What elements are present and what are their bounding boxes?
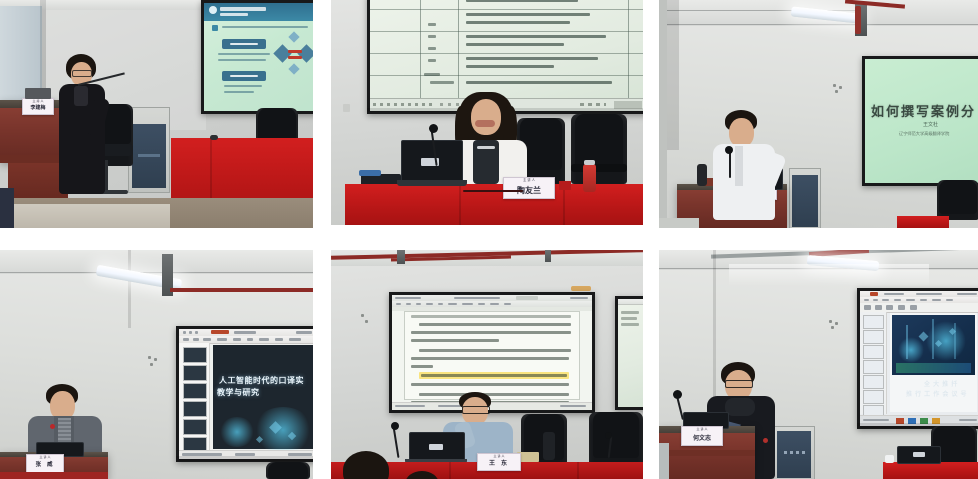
slide-title-line2: 推 行 工 作 会 议 号 bbox=[906, 389, 967, 398]
slide-title-line2: 教学与研究 bbox=[217, 387, 260, 398]
nameplate-name: 何文志 bbox=[693, 436, 711, 442]
thermos bbox=[697, 164, 707, 186]
office-chair bbox=[266, 462, 310, 479]
photo-3[interactable]: 如何撰写案例分 王文杜 辽宁师范大学高级翻译学院 主 讲 人 王桂 bbox=[659, 0, 978, 228]
wall-marks bbox=[361, 314, 364, 317]
projection-screen: 如何撰写案例分 王文杜 辽宁师范大学高级翻译学院 bbox=[862, 56, 978, 186]
equipment-cabinet bbox=[789, 168, 821, 228]
photo-6[interactable]: 全 大 推 扦 推 行 工 作 会 议 号 bbox=[659, 250, 978, 479]
nameplate-name: 李建梅 bbox=[30, 106, 45, 111]
slide-thumbnail[interactable] bbox=[863, 315, 884, 329]
slide-title-line1: 全 大 推 扦 bbox=[924, 379, 958, 388]
photo-2[interactable]: 主 讲 人 陶友兰 bbox=[331, 0, 643, 225]
photo-4[interactable]: 人工智能时代的口译实 教学与研究 bbox=[0, 250, 313, 479]
slide-thumbnail[interactable] bbox=[183, 419, 207, 435]
nameplate-sub: 主 讲 人 bbox=[682, 428, 722, 431]
wall-marks bbox=[833, 84, 836, 87]
projection-screen: 人工智能时代的口译实 教学与研究 bbox=[176, 326, 313, 462]
nameplate-sub: 主 讲 人 bbox=[27, 456, 63, 459]
slide-title-line1: 人工智能时代的口译实 bbox=[219, 375, 304, 386]
nameplate-sub: 主 讲 人 bbox=[504, 179, 554, 182]
slide-stage: 全 大 推 扦 推 行 工 作 会 议 号 bbox=[890, 313, 977, 412]
slide-thumbnail[interactable] bbox=[183, 365, 207, 381]
wall-marks bbox=[829, 320, 832, 323]
projection-screen: 全 大 推 扦 推 行 工 作 会 议 号 bbox=[857, 288, 978, 429]
cup bbox=[885, 455, 894, 463]
slide-thumbnail[interactable] bbox=[863, 345, 884, 359]
equipment-cabinet bbox=[773, 426, 815, 479]
speaker-person bbox=[56, 54, 108, 200]
screen-subtitle: 王文杜 bbox=[923, 121, 938, 128]
wall-marks bbox=[148, 356, 151, 359]
microphone bbox=[729, 152, 731, 178]
wall-socket bbox=[343, 104, 350, 112]
slide-thumbnail[interactable] bbox=[183, 401, 207, 417]
slide-thumbnail[interactable] bbox=[863, 375, 884, 389]
nameplate-name: 张 威 bbox=[36, 463, 55, 469]
document-page bbox=[404, 311, 580, 400]
slide-thumbnail[interactable] bbox=[863, 390, 884, 404]
water-bottle bbox=[583, 164, 596, 192]
equipment-cabinet bbox=[128, 107, 170, 193]
nameplate: 主 持 人 李建梅 bbox=[22, 98, 54, 115]
office-chair bbox=[571, 114, 627, 184]
laptop bbox=[897, 446, 939, 464]
thermos bbox=[543, 432, 555, 460]
nameplate-sub: 主 讲 人 bbox=[478, 455, 520, 458]
red-draped-table bbox=[883, 462, 978, 479]
secondary-projection-screen bbox=[615, 296, 643, 410]
photo-grid: 主 持 人 李建梅 bbox=[0, 0, 978, 479]
speaker-person bbox=[711, 110, 783, 220]
red-draped-table bbox=[897, 216, 949, 228]
slide-thumbnail[interactable] bbox=[183, 383, 207, 399]
slide-thumbnail[interactable] bbox=[183, 347, 207, 363]
office-chair bbox=[937, 180, 978, 220]
nameplate: 主 讲 人 张 威 bbox=[26, 454, 64, 474]
photo-1[interactable]: 主 持 人 李建梅 bbox=[0, 0, 313, 228]
nameplate: 主 讲 人 王 东 bbox=[477, 453, 521, 471]
nameplate: 主 讲 人 陶友兰 bbox=[503, 177, 555, 199]
slide-thumbnail[interactable] bbox=[863, 330, 884, 344]
nameplate-sub: 主 持 人 bbox=[23, 100, 53, 103]
photo-5[interactable]: 主 讲 人 王 东 bbox=[331, 250, 643, 479]
nameplate: 主 讲 人 何文志 bbox=[681, 426, 723, 446]
nameplate-name: 王 东 bbox=[489, 461, 509, 467]
screen-title: 如何撰写案例分 bbox=[871, 101, 976, 120]
projection-screen bbox=[201, 0, 313, 114]
screen-affiliation: 辽宁师范大学高级翻译学院 bbox=[899, 131, 949, 137]
slide-thumbnail[interactable] bbox=[863, 360, 884, 374]
slide-stage: 人工智能时代的口译实 教学与研究 bbox=[213, 345, 313, 449]
